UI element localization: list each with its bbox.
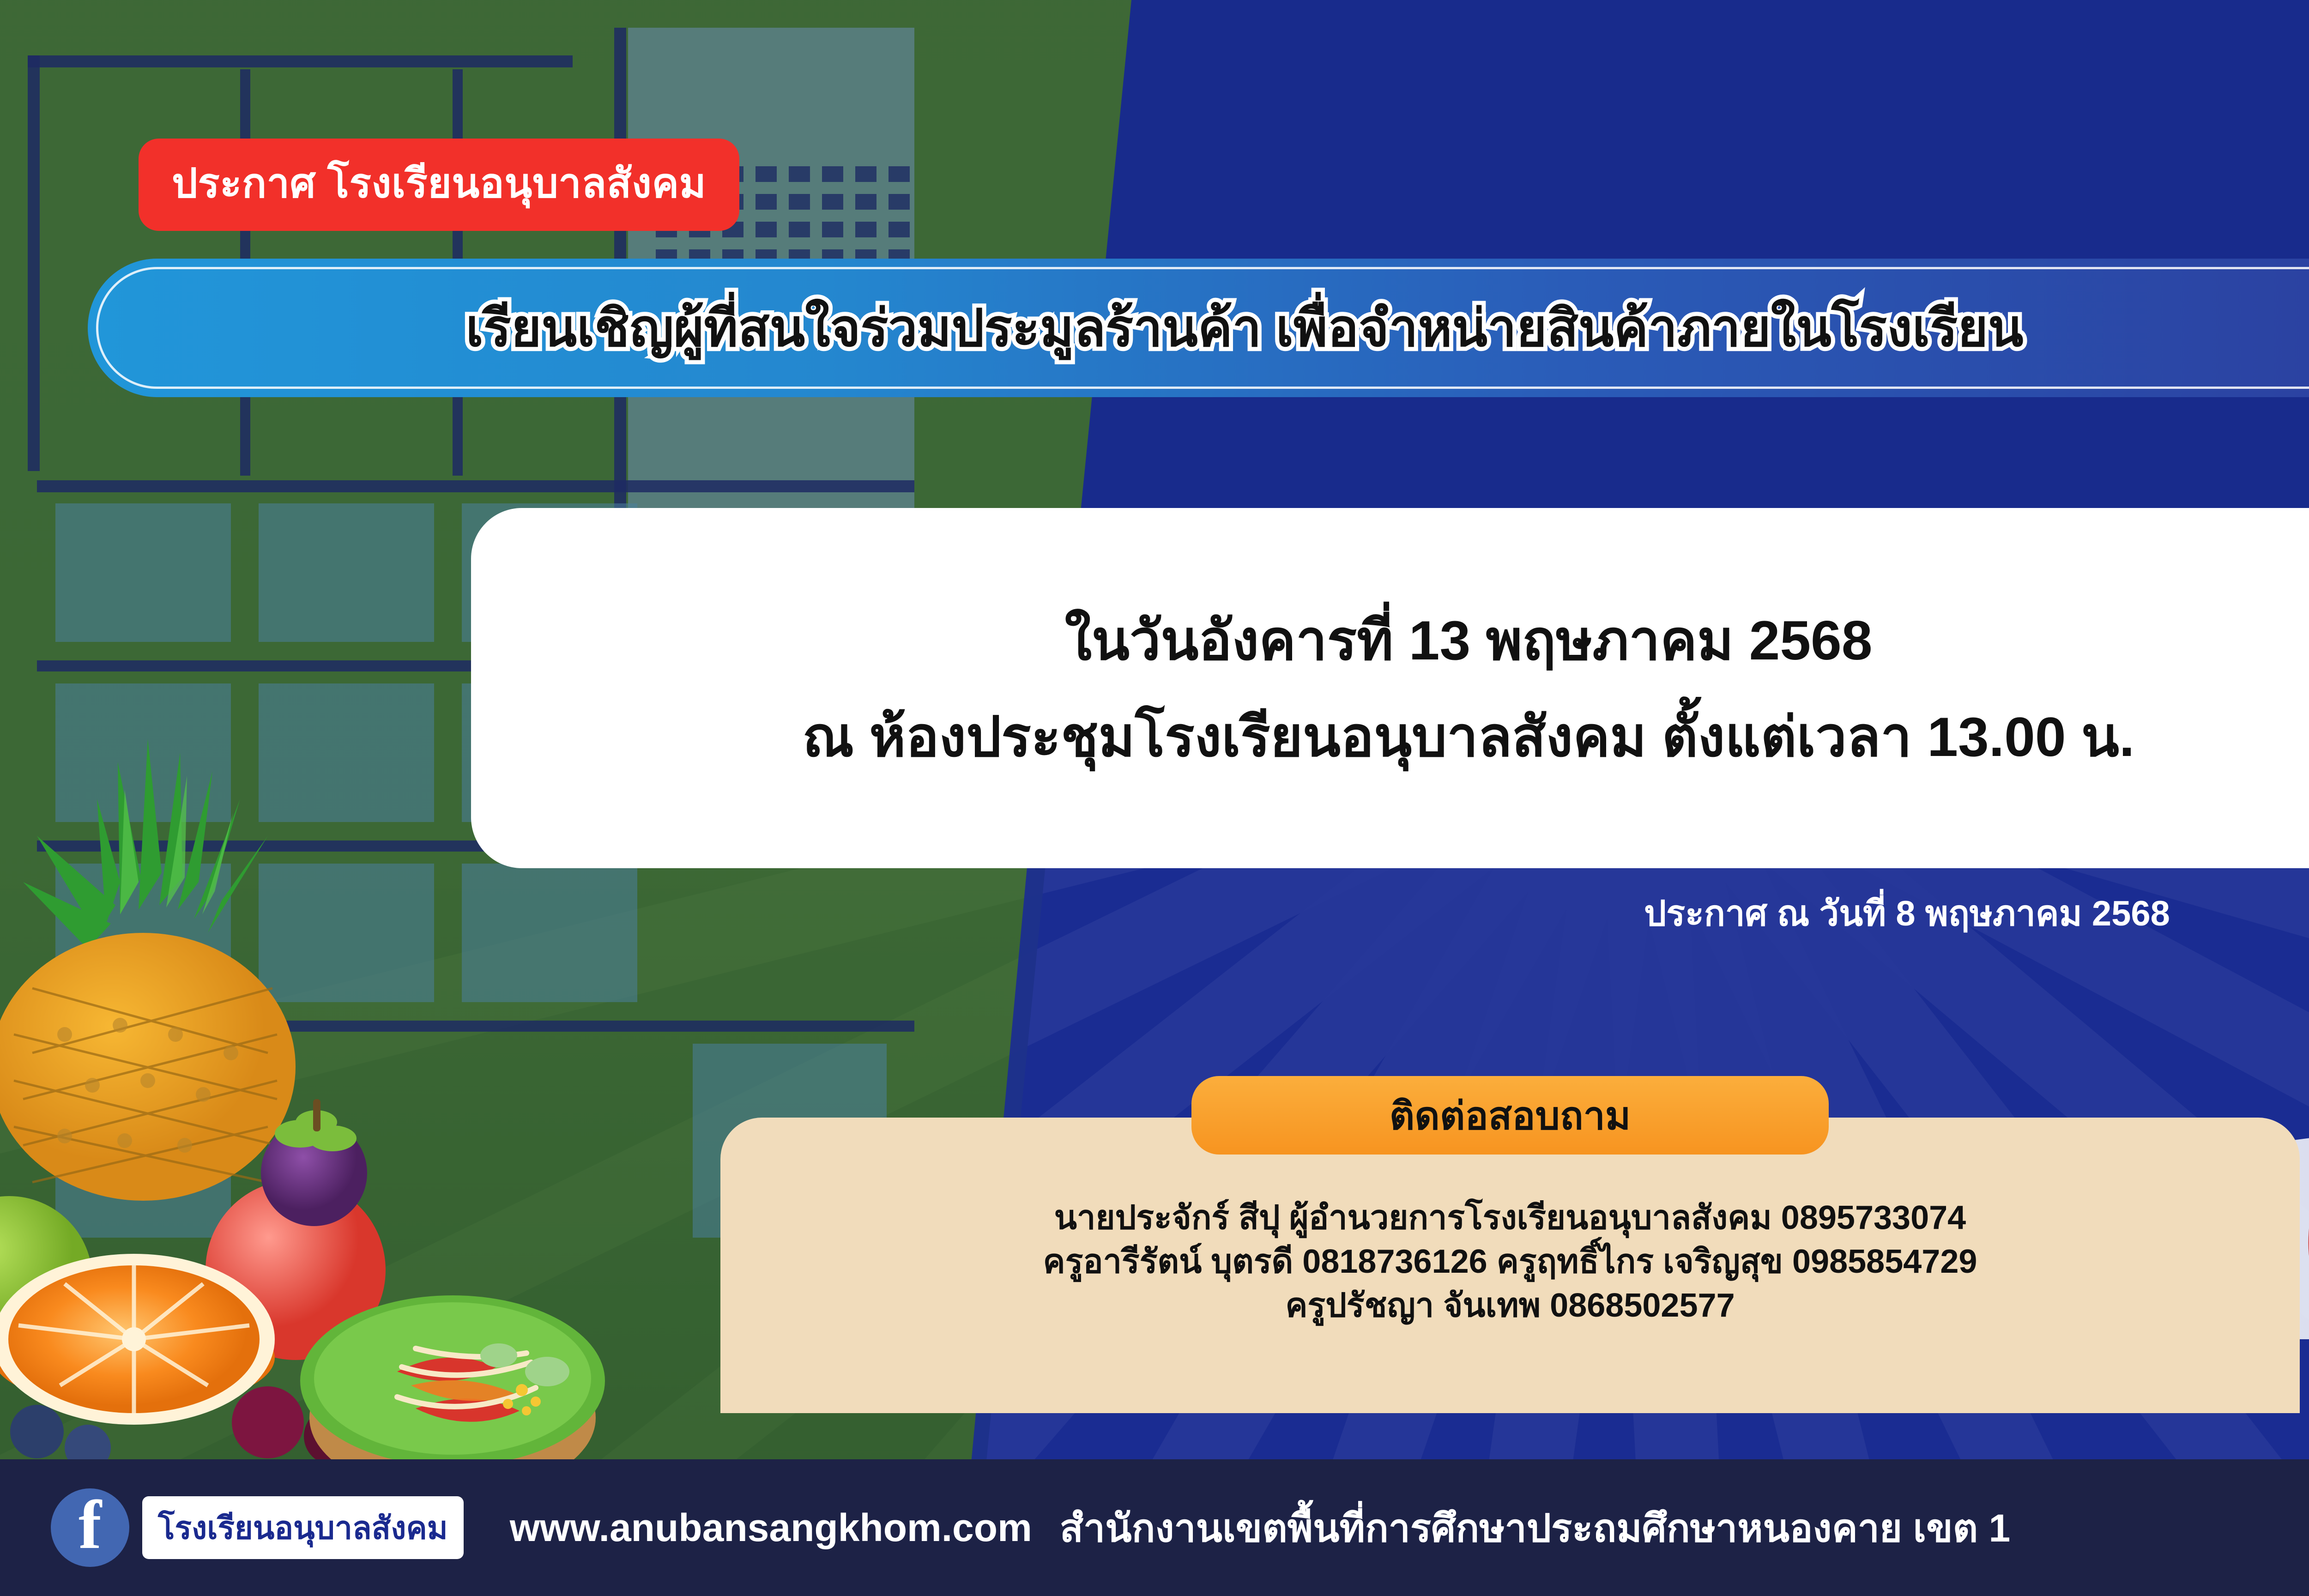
announcement-badge-label: ประกาศ โรงเรียนอนุบาลสังคม xyxy=(172,160,706,206)
headline-bar: เรียนเชิญผู้ที่สนใจร่วมประมูลร้านค้า เพื… xyxy=(88,259,2309,397)
event-date-card: ในวันอังคารที่ 13 พฤษภาคม 2568 ณ ห้องประ… xyxy=(471,508,2309,868)
contact-line-1: นายประจักร์ สีปุ ผู้อำนวยการโรงเรียนอนุบ… xyxy=(1054,1196,1966,1240)
headline-text: เรียนเชิญผู้ที่สนใจร่วมประมูลร้านค้า เพื… xyxy=(465,287,2023,369)
fruit-illustration-left xyxy=(0,683,545,1469)
facebook-icon[interactable]: f xyxy=(51,1488,129,1567)
contact-line-3: ครูปรัชญา จันเทพ 0868502577 xyxy=(1285,1284,1735,1328)
contact-title-pill: ติดต่อสอบถาม xyxy=(1191,1076,1829,1155)
event-date-line-1: ในวันอังคารที่ 13 พฤษภาคม 2568 xyxy=(1064,596,1872,684)
announcement-banner: โรงเรียนอนุบาลสังคม xyxy=(0,0,2309,1596)
footer-bar: f โรงเรียนอนุบาลสังคม www.anubansangkhom… xyxy=(0,1459,2309,1596)
facebook-page-pill[interactable]: โรงเรียนอนุบาลสังคม xyxy=(142,1496,464,1559)
announcement-badge: ประกาศ โรงเรียนอนุบาลสังคม xyxy=(139,139,739,231)
contact-panel: นายประจักร์ สีปุ ผู้อำนวยการโรงเรียนอนุบ… xyxy=(720,1118,2300,1413)
facebook-page-label: โรงเรียนอนุบาลสังคม xyxy=(158,1511,448,1546)
event-date-line-2: ณ ห้องประชุมโรงเรียนอนุบาลสังคม ตั้งแต่เ… xyxy=(803,692,2135,780)
contact-title-label: ติดต่อสอบถาม xyxy=(1390,1084,1631,1146)
website-url[interactable]: www.anubansangkhom.com xyxy=(510,1505,1032,1550)
contact-line-2: ครูอารีรัตน์ บุตรดี 0818736126 ครูฤทธิ์ไ… xyxy=(1043,1240,1977,1284)
posted-date: ประกาศ ณ วันที่ 8 พฤษภาคม 2568 xyxy=(1644,886,2170,941)
education-office-label: สำนักงานเขตพื้นที่การศึกษาประถมศึกษาหนอง… xyxy=(1060,1497,2010,1559)
